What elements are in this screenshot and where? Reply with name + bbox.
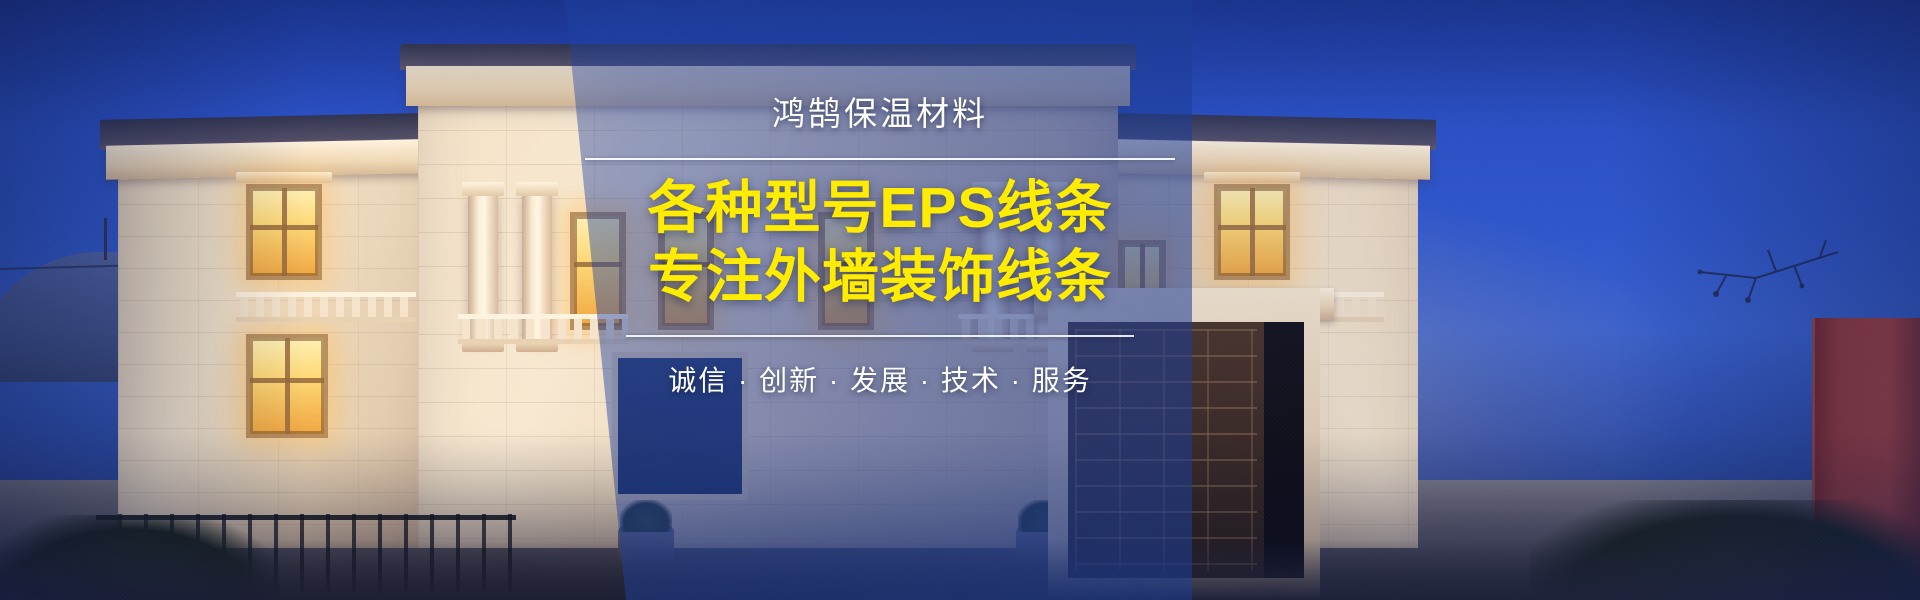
headline-line-1: 各种型号EPS线条 — [585, 174, 1175, 242]
divider-bottom — [626, 335, 1133, 337]
tagline: 诚信 · 创新 · 发展 · 技术 · 服务 — [585, 359, 1175, 399]
headline-line-2: 专注外墙装饰线条 — [585, 243, 1175, 311]
banner-content: 鸿鹄保温材料 各种型号EPS线条 专注外墙装饰线条 诚信 · 创新 · 发展 ·… — [585, 96, 1175, 399]
brand-title: 鸿鹄保温材料 — [585, 96, 1175, 132]
headline-group: 各种型号EPS线条 专注外墙装饰线条 — [585, 174, 1175, 311]
divider-top — [585, 158, 1175, 160]
promo-banner: 鸿鹄保温材料 各种型号EPS线条 专注外墙装饰线条 诚信 · 创新 · 发展 ·… — [0, 0, 1920, 600]
